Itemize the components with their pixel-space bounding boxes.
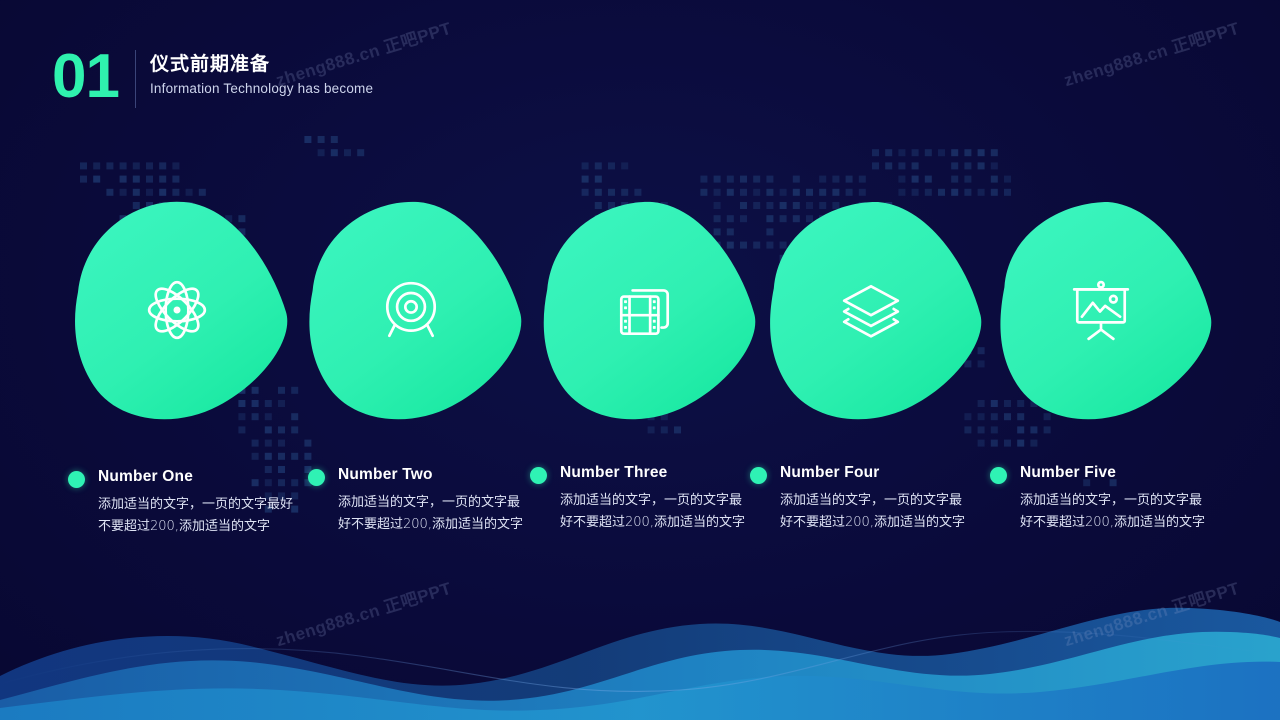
bullet-dot-1 <box>68 471 85 488</box>
caption-block-2: Number Two添加适当的文字，一页的文字最好不要超过200,添加适当的文字 <box>308 466 530 536</box>
petal-card-1[interactable] <box>58 196 296 424</box>
section-number: 01 <box>52 48 119 106</box>
target-icon <box>292 196 530 424</box>
petal-card-5[interactable] <box>982 196 1220 424</box>
slide-header: 01 仪式前期准备 Information Technology has bec… <box>52 48 373 108</box>
caption-block-3: Number Three添加适当的文字，一页的文字最好不要超过200,添加适当的… <box>530 464 748 534</box>
caption-block-5: Number Five添加适当的文字，一页的文字最好不要超过200,添加适当的文… <box>990 464 1206 534</box>
page-subtitle: Information Technology has become <box>150 81 373 96</box>
petal-card-2[interactable] <box>292 196 530 424</box>
caption-body: 添加适当的文字，一页的文字最好不要超过200,添加适当的文字 <box>560 490 748 534</box>
caption-block-4: Number Four添加适当的文字，一页的文字最好不要超过200,添加适当的文… <box>750 464 966 534</box>
petal-card-4[interactable] <box>752 196 990 424</box>
petal-row <box>0 196 1280 428</box>
caption-title: Number One <box>98 468 193 486</box>
bottom-wave-decoration <box>0 580 1280 720</box>
caption-body: 添加适当的文字，一页的文字最好不要超过200,添加适当的文字 <box>780 490 966 534</box>
caption-body: 添加适当的文字，一页的文字最好不要超过200,添加适当的文字 <box>1020 490 1206 534</box>
caption-block-1: Number One添加适当的文字，一页的文字最好不要超过200,添加适当的文字 <box>68 468 296 538</box>
layers-icon <box>752 196 990 424</box>
atom-icon <box>58 196 296 424</box>
slide-canvas: 01 仪式前期准备 Information Technology has bec… <box>0 0 1280 720</box>
petal-card-3[interactable] <box>526 196 764 424</box>
caption-title: Number Two <box>338 466 433 484</box>
caption-title: Number Four <box>780 464 880 482</box>
header-divider <box>135 50 136 108</box>
caption-title: Number Three <box>560 464 667 482</box>
bullet-dot-3 <box>530 467 547 484</box>
caption-title: Number Five <box>1020 464 1116 482</box>
film-strip-icon <box>526 196 764 424</box>
bullet-dot-2 <box>308 469 325 486</box>
caption-row: Number One添加适当的文字，一页的文字最好不要超过200,添加适当的文字… <box>0 458 1280 578</box>
page-title: 仪式前期准备 <box>150 52 373 76</box>
bullet-dot-4 <box>750 467 767 484</box>
presentation-image-icon <box>982 196 1220 424</box>
caption-body: 添加适当的文字，一页的文字最好不要超过200,添加适当的文字 <box>338 492 530 536</box>
bullet-dot-5 <box>990 467 1007 484</box>
caption-body: 添加适当的文字，一页的文字最好不要超过200,添加适当的文字 <box>98 494 296 538</box>
